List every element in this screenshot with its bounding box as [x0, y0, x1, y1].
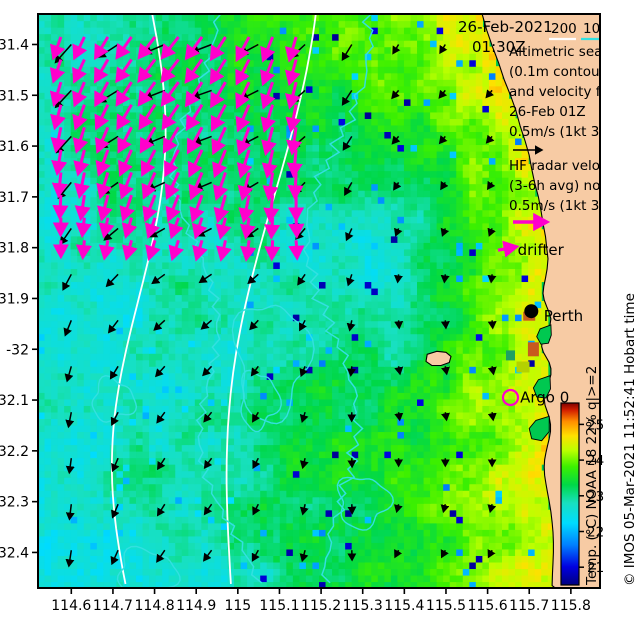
sst-pixel: [371, 229, 378, 236]
sst-pixel: [273, 353, 280, 360]
sst-pixel: [45, 223, 52, 230]
sst-pixel: [162, 288, 169, 295]
sst-pixel: [430, 386, 437, 393]
sst-pixel: [482, 536, 489, 543]
sst-pixel: [319, 379, 326, 386]
sst-pixel: [156, 255, 163, 262]
sst-pixel: [254, 445, 261, 452]
sst-pixel: [84, 536, 91, 543]
sst-pixel: [430, 542, 437, 549]
sst-pixel: [156, 438, 163, 445]
sst-pixel: [306, 386, 313, 393]
sst-pixel: [443, 301, 450, 308]
sst-pixel: [156, 386, 163, 393]
sst-pixel: [45, 301, 52, 308]
sst-pixel: [522, 445, 529, 452]
sst-pixel: [482, 268, 489, 275]
sst-pixel: [156, 171, 163, 178]
sst-pixel: [103, 288, 110, 295]
sst-pixel: [332, 392, 339, 399]
sst-pixel: [129, 379, 136, 386]
sst-pixel: [371, 360, 378, 367]
sst-pixel: [103, 425, 110, 432]
sst-pixel: [84, 510, 91, 517]
sst-pixel: [293, 529, 300, 536]
sst-pixel: [424, 242, 431, 249]
sst-pixel: [489, 294, 496, 301]
sst-pixel: [156, 431, 163, 438]
sst-pixel: [482, 529, 489, 536]
sst-pixel: [339, 451, 346, 458]
sst-pixel: [365, 399, 372, 406]
sst-pixel: [214, 529, 221, 536]
sst-pixel: [84, 210, 91, 217]
sst-pixel: [371, 529, 378, 536]
sst-pixel: [482, 190, 489, 197]
sst-pixel: [267, 490, 274, 497]
sst-pixel: [384, 529, 391, 536]
sst-pixel: [299, 262, 306, 269]
sst-pixel: [384, 542, 391, 549]
sst-pixel: [522, 347, 529, 354]
sst-pixel: [195, 347, 202, 354]
sst-pixel: [260, 523, 267, 530]
sst-pixel: [214, 438, 221, 445]
sst-pixel: [299, 379, 306, 386]
sst-pixel: [476, 294, 483, 301]
sst-pixel: [84, 549, 91, 556]
sst-pixel: [417, 268, 424, 275]
sst-pixel: [430, 275, 437, 282]
sst-pixel: [509, 575, 516, 582]
sst-pixel: [319, 223, 326, 230]
sst-pixel: [424, 301, 431, 308]
sst-pixel: [476, 210, 483, 217]
sst-pixel: [116, 497, 123, 504]
sst-pixel: [129, 490, 136, 497]
sst-pixel: [502, 223, 509, 230]
sst-pixel-grid: [38, 14, 555, 589]
sst-pixel: [391, 425, 398, 432]
sst-pixel: [221, 575, 228, 582]
sst-pixel: [528, 288, 535, 295]
sst-pixel: [77, 321, 84, 328]
sst-pixel: [365, 484, 372, 491]
sst-pixel: [319, 386, 326, 393]
sst-pixel: [535, 294, 542, 301]
sst-pixel: [384, 314, 391, 321]
sst-pixel: [345, 308, 352, 315]
sst-pixel: [77, 268, 84, 275]
sst-pixel: [51, 236, 58, 243]
sst-pixel: [410, 510, 417, 517]
sst-pixel: [97, 366, 104, 373]
sst-pixel: [410, 373, 417, 380]
sst-pixel: [378, 536, 385, 543]
sst-pixel: [332, 249, 339, 256]
sst-pixel: [162, 386, 169, 393]
sst-pixel: [391, 418, 398, 425]
sst-pixel: [332, 471, 339, 478]
sst-pixel: [424, 210, 431, 217]
sst-pixel: [319, 471, 326, 478]
sst-pixel: [319, 347, 326, 354]
sst-pixel: [280, 360, 287, 367]
sst-pixel: [378, 438, 385, 445]
sst-pixel: [378, 360, 385, 367]
sst-pixel: [129, 366, 136, 373]
sst-pixel: [97, 497, 104, 504]
sst-pixel: [437, 340, 444, 347]
sst-pixel: [280, 431, 287, 438]
sst-pixel: [254, 418, 261, 425]
sst-pixel: [116, 484, 123, 491]
sst-pixel: [103, 314, 110, 321]
sst-pixel: [437, 203, 444, 210]
sst-pixel: [352, 171, 359, 178]
sst-pixel: [136, 327, 143, 334]
sst-pixel: [182, 334, 189, 341]
sst-pixel: [58, 340, 65, 347]
sst-pixel: [228, 431, 235, 438]
sst-pixel: [509, 229, 516, 236]
sst-pixel: [188, 516, 195, 523]
sst-pixel: [228, 171, 235, 178]
sst-pixel: [51, 418, 58, 425]
sst-pixel: [38, 164, 45, 171]
sst-pixel: [58, 255, 65, 262]
sst-pixel: [502, 562, 509, 569]
sst-pixel: [469, 425, 476, 432]
sst-pixel: [456, 458, 463, 465]
sst-pixel: [424, 464, 431, 471]
sst-pixel: [123, 366, 130, 373]
sst-pixel: [234, 418, 241, 425]
sst-pixel: [495, 458, 502, 465]
sst-pixel: [221, 373, 228, 380]
sst-pixel: [195, 510, 202, 517]
sst-pixel: [358, 347, 365, 354]
sst-pixel: [84, 360, 91, 367]
sst-pixel: [319, 477, 326, 484]
sst-pixel: [156, 568, 163, 575]
sst-pixel: [182, 177, 189, 184]
sst-pixel: [535, 523, 542, 530]
sst-pixel: [208, 399, 215, 406]
sst-pixel: [495, 177, 502, 184]
sst-pixel: [58, 529, 65, 536]
sst-pixel: [71, 242, 78, 249]
sst-pixel: [110, 268, 117, 275]
sst-pixel: [312, 562, 319, 569]
sst-pixel: [319, 405, 326, 412]
sst-pixel: [410, 314, 417, 321]
sst-pixel: [221, 281, 228, 288]
sst-pixel: [58, 399, 65, 406]
sst-pixel: [365, 555, 372, 562]
sst-pixel: [129, 281, 136, 288]
sst-pixel: [241, 562, 248, 569]
sst-pixel: [286, 497, 293, 504]
sst-pixel: [522, 575, 529, 582]
sst-pixel: [463, 516, 470, 523]
sst-pixel: [156, 249, 163, 256]
sst-pixel: [502, 216, 509, 223]
sst-pixel: [345, 216, 352, 223]
sst-pixel: [391, 536, 398, 543]
sst-pixel: [371, 438, 378, 445]
sst-pixel: [397, 262, 404, 269]
sst-pixel: [404, 438, 411, 445]
sst-pixel: [267, 308, 274, 315]
sst-pixel: [182, 275, 189, 282]
sst-pixel: [51, 510, 58, 517]
sst-pixel: [299, 464, 306, 471]
sst-pixel: [437, 268, 444, 275]
sst-pixel: [489, 399, 496, 406]
sst-pixel: [234, 484, 241, 491]
sst-pixel: [58, 431, 65, 438]
sst-pixel: [476, 386, 483, 393]
sst-pixel: [64, 575, 71, 582]
sst-pixel: [384, 477, 391, 484]
sst-pixel: [332, 262, 339, 269]
sst-pixel: [254, 340, 261, 347]
sst-pixel: [332, 203, 339, 210]
sst-pixel: [169, 510, 176, 517]
sst-pixel: [38, 451, 45, 458]
sst-pixel: [201, 438, 208, 445]
sst-pixel: [188, 471, 195, 478]
sst-pixel: [463, 373, 470, 380]
sst-pixel: [417, 262, 424, 269]
sst-pixel: [482, 308, 489, 315]
sst-pixel: [326, 451, 333, 458]
sst-pixel: [312, 431, 319, 438]
sst-pixel: [97, 503, 104, 510]
sst-pixel: [260, 464, 267, 471]
sst-pixel: [509, 516, 516, 523]
sst-pixel: [476, 203, 483, 210]
sst-pixel: [280, 536, 287, 543]
sst-pixel: [71, 327, 78, 334]
sst-pixel: [417, 314, 424, 321]
sst-pixel: [162, 490, 169, 497]
sst-pixel: [371, 281, 378, 288]
sst-pixel: [273, 236, 280, 243]
sst-pixel: [71, 275, 78, 282]
sst-pixel: [306, 497, 313, 504]
sst-pixel: [469, 262, 476, 269]
sst-pixel: [162, 373, 169, 380]
sst-pixel: [254, 386, 261, 393]
sst-pixel: [476, 327, 483, 334]
sst-pixel: [188, 203, 195, 210]
sst-pixel: [90, 249, 97, 256]
sst-pixel: [358, 210, 365, 217]
sst-pixel: [443, 438, 450, 445]
sst-pixel: [293, 425, 300, 432]
sst-pixel: [156, 529, 163, 536]
sst-pixel: [201, 568, 208, 575]
sst-pixel: [45, 490, 52, 497]
sst-pixel: [391, 190, 398, 197]
sst-pixel: [260, 379, 267, 386]
sst-pixel: [495, 399, 502, 406]
sst-pixel: [528, 281, 535, 288]
sst-pixel: [397, 288, 404, 295]
sst-pixel: [410, 321, 417, 328]
sst-pixel: [247, 347, 254, 354]
sst-pixel: [522, 536, 529, 543]
sst-pixel: [247, 438, 254, 445]
sst-pixel: [38, 229, 45, 236]
sst-pixel: [358, 340, 365, 347]
sst-pixel: [463, 314, 470, 321]
sst-pixel: [221, 379, 228, 386]
sst-pixel: [319, 497, 326, 504]
sst-pixel: [71, 281, 78, 288]
sst-pixel: [293, 281, 300, 288]
sst-pixel: [38, 242, 45, 249]
sst-pixel: [38, 405, 45, 412]
sst-pixel: [214, 425, 221, 432]
sst-pixel: [45, 203, 52, 210]
sst-pixel: [365, 184, 372, 191]
sst-pixel: [71, 308, 78, 315]
sst-pixel: [254, 288, 261, 295]
sst-pixel: [391, 197, 398, 204]
sst-pixel: [38, 294, 45, 301]
sst-pixel: [38, 203, 45, 210]
sst-pixel: [424, 249, 431, 256]
sst-pixel: [515, 268, 522, 275]
sst-pixel: [175, 288, 182, 295]
sst-pixel: [456, 490, 463, 497]
sst-pixel: [116, 308, 123, 315]
sst-pixel: [175, 275, 182, 282]
sst-pixel: [469, 438, 476, 445]
sst-pixel: [90, 288, 97, 295]
sst-pixel: [443, 242, 450, 249]
sst-pixel: [312, 242, 319, 249]
sst-pixel: [469, 405, 476, 412]
sst-pixel: [110, 327, 117, 334]
sst-pixel: [201, 294, 208, 301]
sst-pixel: [326, 275, 333, 282]
sst-pixel: [358, 510, 365, 517]
sst-pixel: [38, 171, 45, 178]
sst-pixel: [404, 288, 411, 295]
sst-pixel: [430, 294, 437, 301]
sst-pixel: [456, 418, 463, 425]
sst-pixel: [286, 236, 293, 243]
sst-pixel: [495, 366, 502, 373]
sst-pixel: [97, 281, 104, 288]
sst-pixel: [326, 562, 333, 569]
sst-pixel: [51, 249, 58, 256]
sst-pixel: [45, 418, 52, 425]
sst-pixel: [214, 373, 221, 380]
sst-pixel: [182, 458, 189, 465]
sst-pixel: [450, 575, 457, 582]
sst-pixel: [214, 484, 221, 491]
sst-pixel: [208, 327, 215, 334]
sst-pixel: [267, 497, 274, 504]
sst-pixel: [123, 503, 130, 510]
sst-pixel: [463, 321, 470, 328]
sst-pixel: [522, 431, 529, 438]
sst-pixel: [319, 529, 326, 536]
sst-pixel: [280, 484, 287, 491]
sst-pixel: [456, 562, 463, 569]
sst-pixel: [326, 431, 333, 438]
sst-pixel: [110, 308, 117, 315]
sst-pixel: [424, 236, 431, 243]
sst-pixel: [424, 327, 431, 334]
sst-pixel: [365, 575, 372, 582]
sst-pixel: [77, 510, 84, 517]
sst-pixel: [129, 484, 136, 491]
sst-pixel: [58, 301, 65, 308]
sst-pixel: [437, 497, 444, 504]
sst-pixel: [339, 425, 346, 432]
sst-pixel: [424, 321, 431, 328]
sst-pixel: [352, 242, 359, 249]
sst-pixel: [430, 392, 437, 399]
sst-pixel: [476, 197, 483, 204]
sst-pixel: [410, 360, 417, 367]
sst-pixel: [522, 484, 529, 491]
sst-pixel: [51, 438, 58, 445]
sst-pixel: [71, 347, 78, 354]
sst-pixel: [143, 223, 150, 230]
sst-pixel: [410, 255, 417, 262]
sst-pixel: [156, 308, 163, 315]
sst-pixel: [71, 177, 78, 184]
sst-pixel: [378, 523, 385, 530]
sst-pixel: [214, 242, 221, 249]
sst-pixel: [326, 288, 333, 295]
sst-pixel: [397, 281, 404, 288]
sst-pixel: [201, 516, 208, 523]
sst-pixel: [45, 262, 52, 269]
sst-pixel: [110, 451, 117, 458]
sst-pixel: [293, 275, 300, 282]
sst-pixel: [410, 471, 417, 478]
sst-pixel: [319, 510, 326, 517]
sst-pixel: [358, 353, 365, 360]
sst-pixel: [234, 431, 241, 438]
sst-pixel: [378, 366, 385, 373]
sst-pixel: [456, 262, 463, 269]
sst-pixel: [456, 236, 463, 243]
sst-pixel: [234, 301, 241, 308]
sst-pixel: [110, 334, 117, 341]
sst-pixel: [129, 431, 136, 438]
sst-pixel: [38, 497, 45, 504]
sst-pixel: [404, 262, 411, 269]
sst-pixel: [280, 203, 287, 210]
sst-pixel: [417, 327, 424, 334]
sst-pixel: [365, 236, 372, 243]
sst-pixel: [378, 249, 385, 256]
sst-pixel: [188, 490, 195, 497]
sst-pixel: [228, 262, 235, 269]
sst-pixel: [384, 458, 391, 465]
sst-pixel: [195, 529, 202, 536]
sst-pixel: [182, 445, 189, 452]
